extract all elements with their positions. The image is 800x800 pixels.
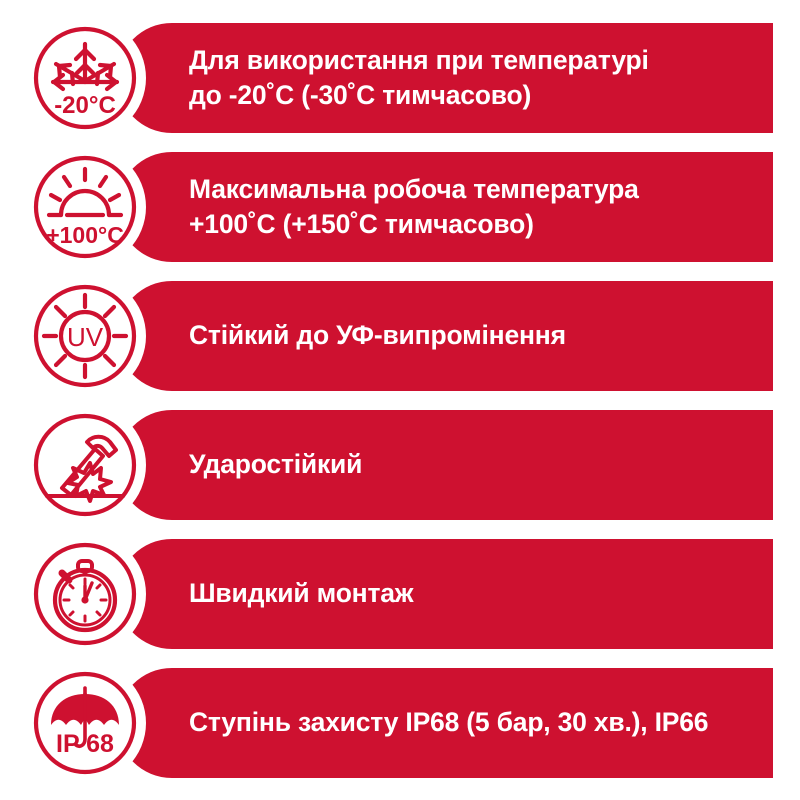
icon-label: +100°C [46, 222, 124, 248]
feature-list: -20°C Для використання при температурі д… [0, 0, 800, 800]
feature-row: UV Стійкий до УФ-випромінення [0, 281, 800, 391]
feature-text: Для використання при температурі до -20˚… [189, 23, 769, 133]
feature-text: Ступінь захисту IP68 (5 бар, 30 хв.), IP… [189, 668, 769, 778]
feature-text: Швидкий монтаж [189, 539, 769, 649]
feature-row: -20°C Для використання при температурі д… [0, 23, 800, 133]
uv-resistance-icon: UV [31, 282, 139, 390]
icon-label: -20°C [54, 92, 116, 119]
icon-label: UV [67, 322, 104, 352]
feature-row: +100°C Максимальна робоча температура +1… [0, 152, 800, 262]
icon-label: IP 68 [56, 730, 114, 758]
feature-text: Стійкий до УФ-випромінення [189, 281, 769, 391]
umbrella-ingress-protection-icon: IP 68 [31, 669, 139, 777]
feature-text: Максимальна робоча температура +100˚C (+… [189, 152, 769, 262]
hammer-impact-resistance-icon [31, 411, 139, 519]
feature-row: Швидкий монтаж [0, 539, 800, 649]
feature-row: Ударостійкий [0, 410, 800, 520]
sun-high-temperature-icon: +100°C [31, 153, 139, 261]
stopwatch-quick-installation-icon [31, 540, 139, 648]
feature-text: Ударостійкий [189, 410, 769, 520]
snowflake-low-temperature-icon: -20°C [31, 24, 139, 132]
feature-row: IP 68 Ступінь захисту IP68 (5 бар, 30 хв… [0, 668, 800, 778]
